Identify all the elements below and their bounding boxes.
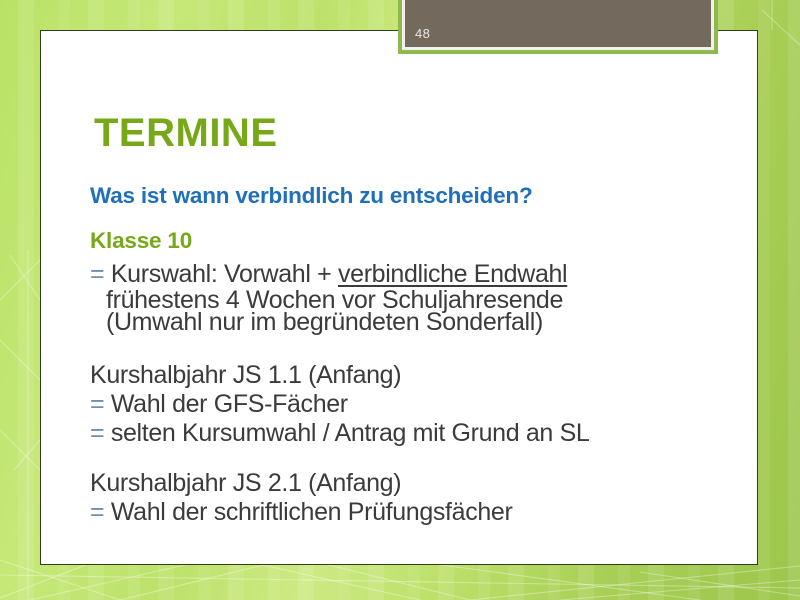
body-line: = Wahl der schriftlichen Prüfungsfächer — [90, 500, 512, 525]
body-text-underlined: verbindliche Endwahl — [338, 260, 567, 288]
slide-text-content: TERMINE Was ist wann verbindlich zu ents… — [40, 30, 758, 565]
equals-marker: = — [90, 260, 104, 288]
block-heading-klasse-10: Klasse 10 — [90, 230, 192, 253]
page-title: TERMINE — [94, 113, 278, 153]
body-text: Kurswahl: Vorwahl + — [104, 260, 338, 288]
body-line: (Umwahl nur im begründeten Sonderfall) — [106, 310, 543, 335]
presentation-slide: 48 TERMINE Was ist wann verbindlich zu e… — [0, 0, 800, 600]
body-text: Wahl der schriftlichen Prüfungsfächer — [104, 498, 512, 526]
body-line: = selten Kursumwahl / Antrag mit Grund a… — [90, 421, 589, 446]
block-heading-js-1-1: Kurshalbjahr JS 1.1 (Anfang) — [90, 363, 401, 388]
body-line: = Wahl der GFS-Fächer — [90, 392, 348, 417]
slide-subtitle: Was ist wann verbindlich zu entscheiden? — [90, 185, 533, 208]
body-line: = Kurswahl: Vorwahl + verbindliche Endwa… — [90, 262, 567, 287]
equals-marker: = — [90, 419, 104, 447]
equals-marker: = — [90, 498, 104, 526]
body-text: selten Kursumwahl / Antrag mit Grund an … — [104, 419, 589, 447]
body-text: Wahl der GFS-Fächer — [104, 390, 348, 418]
equals-marker: = — [90, 390, 104, 418]
block-heading-js-2-1: Kurshalbjahr JS 2.1 (Anfang) — [90, 471, 401, 496]
